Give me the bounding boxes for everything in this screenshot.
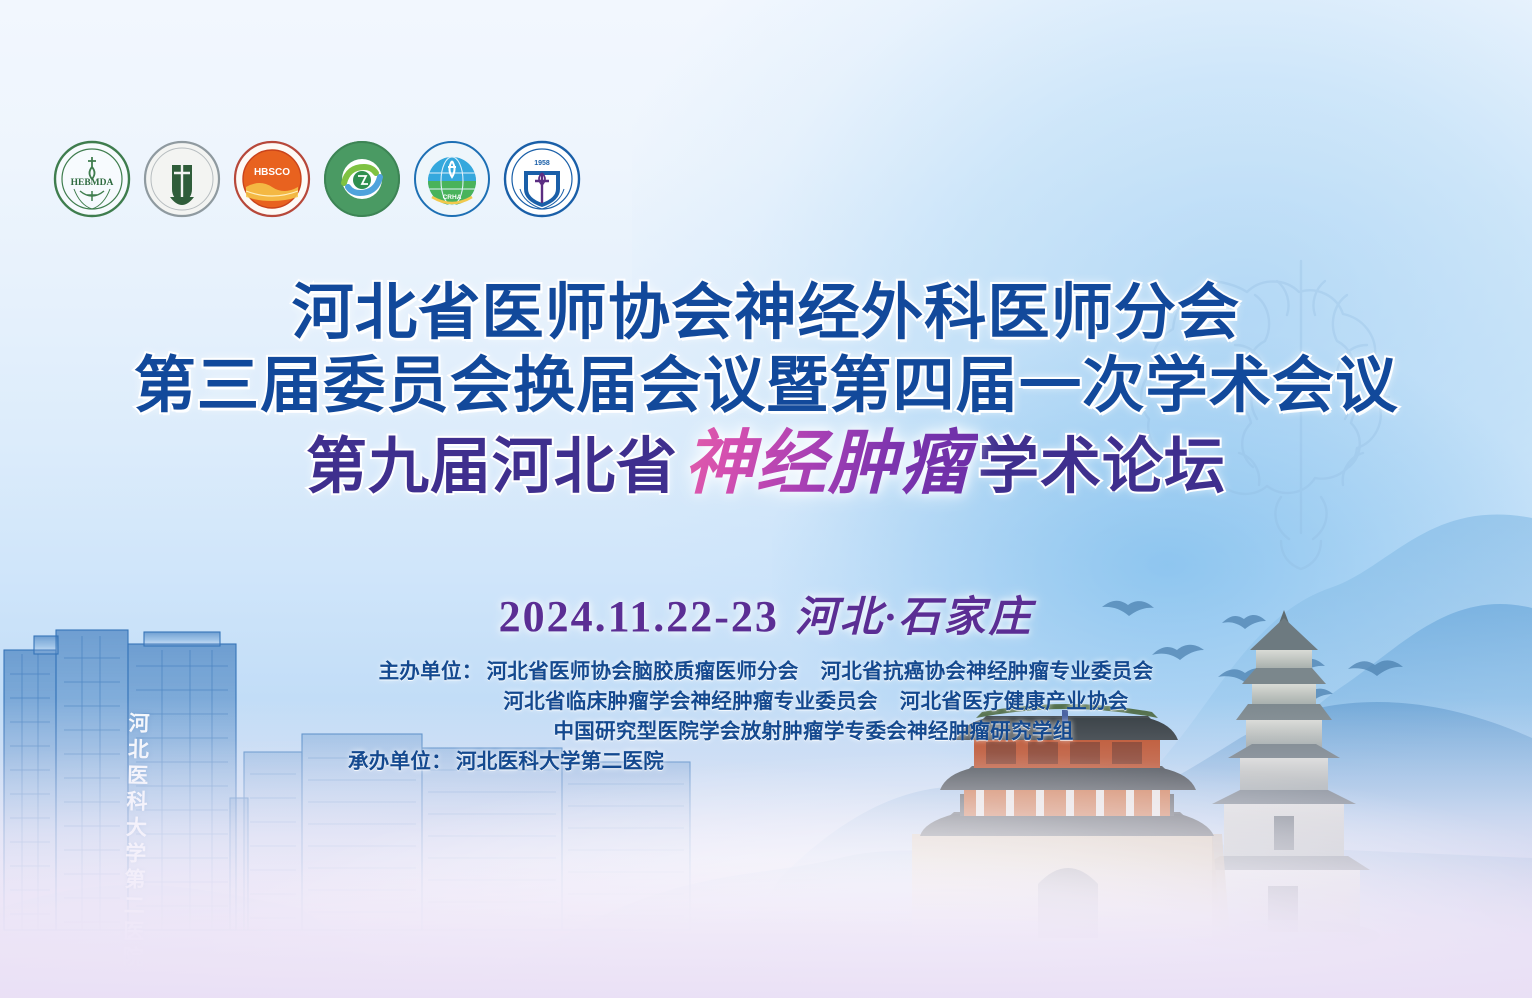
svg-text:CRHA: CRHA bbox=[443, 194, 462, 201]
logo-china-research-hospital-association: CRHA bbox=[412, 139, 492, 219]
title-line-1: 河北省医师协会神经外科医师分会 bbox=[0, 281, 1532, 343]
host-item-4: 河北省医疗健康产业协会 bbox=[900, 690, 1129, 713]
organizer-row-1: 主办单位：河北省医师协会脑胶质瘤医师分会河北省抗癌协会神经肿瘤专业委员会 bbox=[0, 657, 1532, 687]
organizer-row-2: 河北省临床肿瘤学会神经肿瘤专业委员会河北省医疗健康产业协会 bbox=[0, 687, 1532, 717]
host-item-3: 河北省临床肿瘤学会神经肿瘤专业委员会 bbox=[503, 690, 877, 713]
organizer-row-3: 中国研究型医院学会放射肿瘤学专委会神经肿瘤研究学组 bbox=[0, 717, 1532, 747]
organizers-block: 主办单位：河北省医师协会脑胶质瘤医师分会河北省抗癌协会神经肿瘤专业委员会 河北省… bbox=[0, 657, 1532, 777]
coorganizer-item-1: 河北医科大学第二医院 bbox=[456, 750, 664, 773]
title-line-3-suffix: 学术论坛 bbox=[978, 432, 1226, 500]
svg-text:HBSCO: HBSCO bbox=[254, 167, 290, 178]
title-line-3-prefix: 第九届河北省 bbox=[306, 432, 678, 500]
logo-hebei-anti-cancer-association bbox=[142, 139, 222, 219]
mist-overlay-lower bbox=[0, 858, 1532, 998]
hospital-building-lineart bbox=[0, 602, 694, 952]
logo-hebei-medical-university: 1958 bbox=[502, 139, 582, 219]
organizer-logo-row: HEBMDA HBSCO bbox=[52, 139, 582, 219]
city-wall bbox=[912, 834, 1230, 944]
event-date-location: 2024.11.22-23河北·石家庄 bbox=[0, 583, 1532, 644]
host-item-1: 河北省医师协会脑胶质瘤医师分会 bbox=[487, 660, 799, 683]
title-block: 河北省医师协会神经外科医师分会 第三届委员会换届会议暨第四届一次学术会议 第九届… bbox=[0, 281, 1532, 502]
logo-hebei-medical-doctor-association: HEBMDA bbox=[52, 139, 132, 219]
conference-poster: 河北医科大学第二医院 bbox=[0, 0, 1532, 998]
coorganizer-label: 承办单位： bbox=[348, 750, 452, 773]
event-city: 河北·石家庄 bbox=[795, 595, 1034, 641]
host-label: 主办单位： bbox=[379, 660, 483, 683]
host-item-2: 河北省抗癌协会神经肿瘤专业委员会 bbox=[821, 660, 1154, 683]
title-line-3: 第九届河北省神经肿瘤学术论坛 bbox=[0, 428, 1532, 502]
svg-text:1958: 1958 bbox=[534, 160, 550, 167]
organizer-row-4: 承办单位：河北医科大学第二医院 bbox=[0, 747, 1532, 777]
logo-hebei-society-clinical-oncology: HBSCO bbox=[232, 139, 312, 219]
logo-hebei-health-industry-association bbox=[322, 139, 402, 219]
svg-text:HEBMDA: HEBMDA bbox=[71, 178, 114, 188]
title-line-2: 第三届委员会换届会议暨第四届一次学术会议 bbox=[0, 354, 1532, 416]
event-date: 2024.11.22-23 bbox=[499, 592, 779, 641]
host-item-5: 中国研究型医院学会放射肿瘤学专委会神经肿瘤研究学组 bbox=[554, 720, 1074, 743]
title-line-3-calligraphy: 神经肿瘤 bbox=[678, 426, 978, 503]
